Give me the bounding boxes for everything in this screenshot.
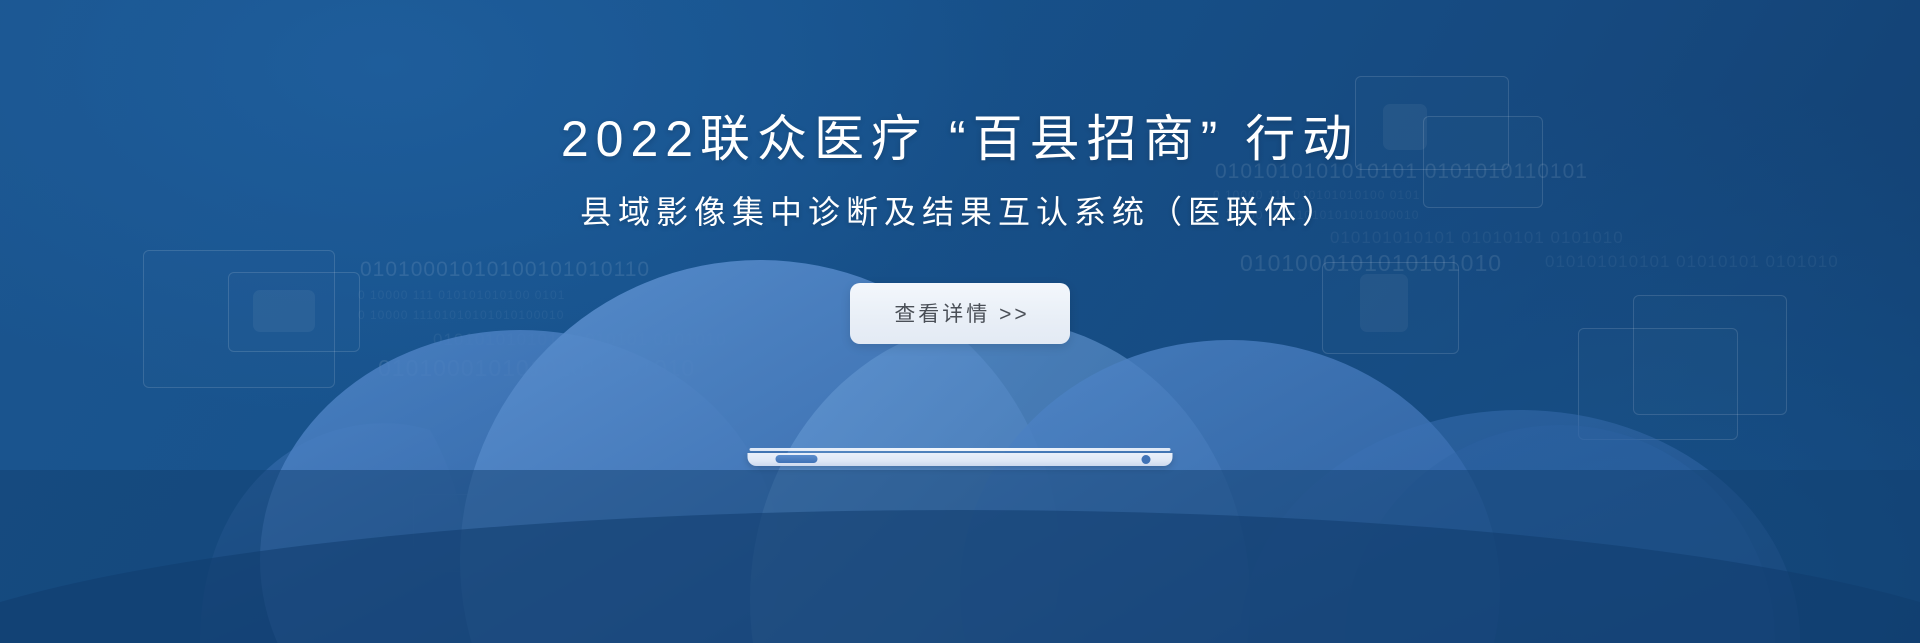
- device-notch-indicator: [776, 455, 818, 463]
- page-title: 2022联众医疗 “百县招商” 行动: [0, 0, 1920, 169]
- banner-content: 2022联众医疗 “百县招商” 行动 县域影像集中诊断及结果互认系统（医联体） …: [0, 0, 1920, 344]
- promo-banner: 01010001010100101010110 0 10000 111 0101…: [0, 0, 1920, 643]
- view-details-button[interactable]: 查看详情 >>: [850, 283, 1069, 344]
- cta-container: 查看详情 >>: [0, 283, 1920, 344]
- device-status-dot: [1142, 455, 1151, 464]
- device-lid-edge: [750, 448, 1171, 451]
- page-subtitle: 县域影像集中诊断及结果互认系统（医联体）: [0, 169, 1920, 231]
- laptop-base-illustration: [748, 448, 1173, 476]
